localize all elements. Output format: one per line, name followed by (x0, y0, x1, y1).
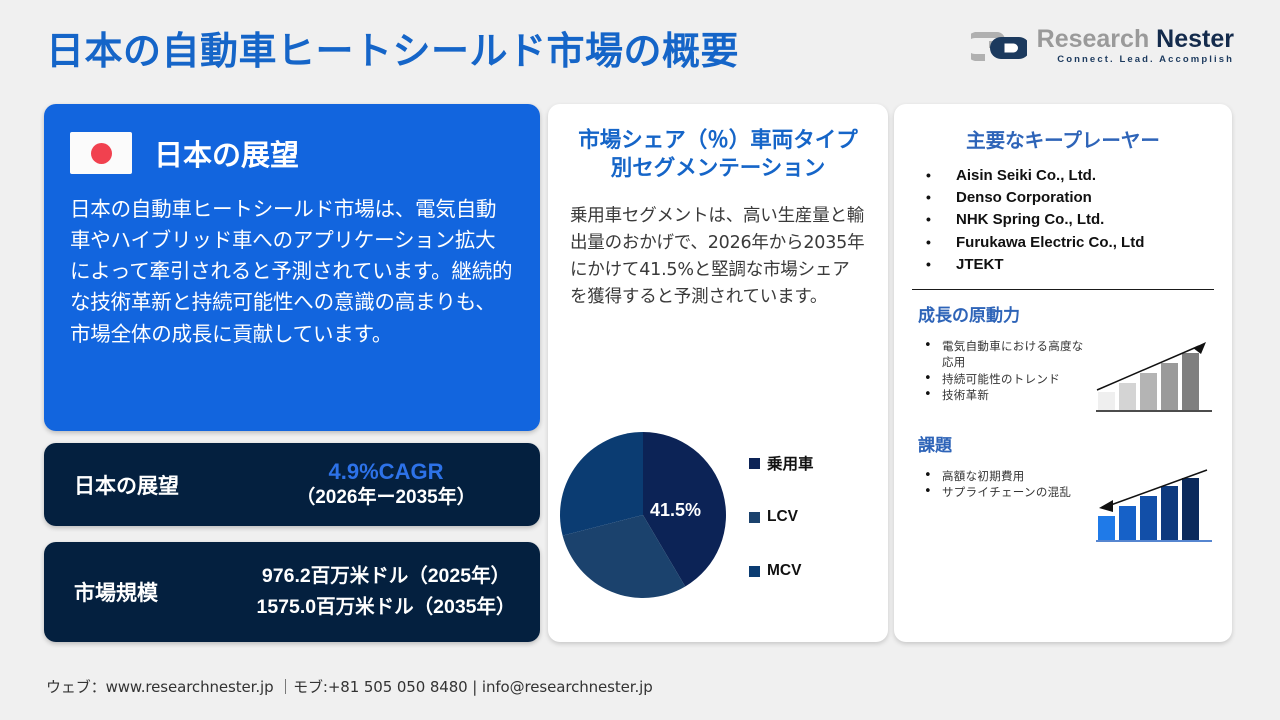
market-size-card: 市場規模 976.2百万米ドル（2025年） 1575.0百万米ドル（2035年… (44, 542, 540, 642)
outlook-title: 日本の展望 (154, 132, 299, 174)
cagr-value: 4.9%CAGR (244, 459, 528, 485)
logo-wordmark: Research Nester (1037, 27, 1234, 53)
growth-drivers-list: 電気自動車における高度な応用 持続可能性のトレンド 技術革新 (910, 338, 1090, 403)
legend-item: LCV (749, 490, 879, 544)
pie-chart-area: 41.5% 乗用車 LCV MCV (548, 422, 888, 632)
page-title: 日本の自動車ヒートシールド市場の概要 (46, 20, 739, 75)
list-item: Aisin Seiki Co., Ltd. (922, 165, 1216, 187)
market-size-row: 976.2百万米ドル（2025年） (244, 561, 528, 592)
cagr-card-label: 日本の展望 (44, 470, 244, 500)
legend-swatch-icon (749, 458, 760, 469)
legend-item: 乗用車 (749, 436, 879, 490)
cagr-period: （2026年ー2035年） (244, 486, 528, 510)
growth-drivers-section: 成長の原動力 電気自動車における高度な応用 持続可能性のトレンド 技術革新 (910, 301, 1216, 420)
list-item: サプライチェーンの混乱 (924, 484, 1090, 500)
japan-flag-icon (70, 132, 132, 174)
logo-text-block: Research Nester Connect. Lead. Accomplis… (1037, 27, 1234, 66)
list-item: NHK Spring Co., Ltd. (922, 209, 1216, 231)
key-players-and-insights-card: 主要なキープレーヤー Aisin Seiki Co., Ltd. Denso C… (894, 104, 1232, 642)
legend-label: MCV (767, 562, 801, 580)
pie-chart-legend: 乗用車 LCV MCV (749, 436, 879, 598)
market-share-card: 市場シェア（％）車両タイプ別セグメンテーション 乗用車セグメントは、高い生産量と… (548, 104, 888, 642)
market-size-row: 1575.0百万米ドル（2035年） (244, 592, 528, 623)
brand-logo: Research Nester Connect. Lead. Accomplis… (971, 26, 1234, 66)
growth-drivers-title: 成長の原動力 (910, 301, 1216, 326)
section-divider (912, 289, 1214, 290)
logo-word-nester: Nester (1156, 25, 1234, 53)
growth-drivers-body: 電気自動車における高度な応用 持続可能性のトレンド 技術革新 (910, 338, 1216, 420)
page-header: 日本の自動車ヒートシールド市場の概要 Research Nester Conne… (0, 0, 1280, 92)
ascending-bar-chart-down-arrow-icon (1094, 468, 1216, 550)
market-share-body-text: 乗用車セグメントは、高い生産量と輸出量のおかげで、2026年から2035年にかけ… (566, 203, 870, 312)
key-players-title: 主要なキープレーヤー (910, 124, 1216, 153)
market-size-card-values: 976.2百万米ドル（2025年） 1575.0百万米ドル（2035年） (244, 561, 540, 623)
logo-word-research: Research (1037, 25, 1150, 53)
footer-contact: ウェブ：www.researchnester.jp ｜モブ:+81 505 05… (46, 676, 653, 697)
legend-label: 乗用車 (767, 452, 814, 474)
challenges-section: 課題 高額な初期費用 サプライチェーンの混乱 (910, 431, 1216, 550)
list-item: 高額な初期費用 (924, 468, 1090, 484)
ascending-bar-chart-up-arrow-icon (1094, 338, 1216, 420)
legend-swatch-icon (749, 566, 760, 577)
list-item: JTEKT (922, 254, 1216, 276)
challenges-body: 高額な初期費用 サプライチェーンの混乱 (910, 468, 1216, 550)
japan-outlook-card: 日本の展望 日本の自動車ヒートシールド市場は、電気自動車やハイブリッド車へのアプ… (44, 104, 540, 431)
list-item: Denso Corporation (922, 187, 1216, 209)
pie-slice-data-label: 41.5% (650, 500, 701, 521)
market-share-title: 市場シェア（％）車両タイプ別セグメンテーション (566, 126, 870, 183)
pie-chart: 41.5% (558, 430, 728, 600)
list-item: 持続可能性のトレンド (924, 371, 1090, 387)
list-item: Furukawa Electric Co., Ltd (922, 232, 1216, 254)
challenges-title: 課題 (910, 431, 1216, 456)
outlook-body-text: 日本の自動車ヒートシールド市場は、電気自動車やハイブリッド車へのアプリケーション… (70, 194, 514, 350)
key-players-list: Aisin Seiki Co., Ltd. Denso Corporation … (910, 165, 1216, 276)
list-item: 電気自動車における高度な応用 (924, 338, 1090, 371)
list-item: 技術革新 (924, 387, 1090, 403)
legend-label: LCV (767, 508, 798, 526)
logo-mark-icon (971, 26, 1027, 66)
cagr-card: 日本の展望 4.9%CAGR （2026年ー2035年） (44, 443, 540, 526)
logo-tagline: Connect. Lead. Accomplish (1037, 54, 1234, 65)
pie-chart-svg (558, 430, 728, 600)
flag-red-disc (91, 143, 112, 164)
legend-swatch-icon (749, 512, 760, 523)
market-size-card-label: 市場規模 (44, 577, 244, 607)
cagr-card-values: 4.9%CAGR （2026年ー2035年） (244, 459, 540, 509)
outlook-header: 日本の展望 (70, 132, 514, 174)
challenges-list: 高額な初期費用 サプライチェーンの混乱 (910, 468, 1090, 501)
legend-item: MCV (749, 544, 879, 598)
